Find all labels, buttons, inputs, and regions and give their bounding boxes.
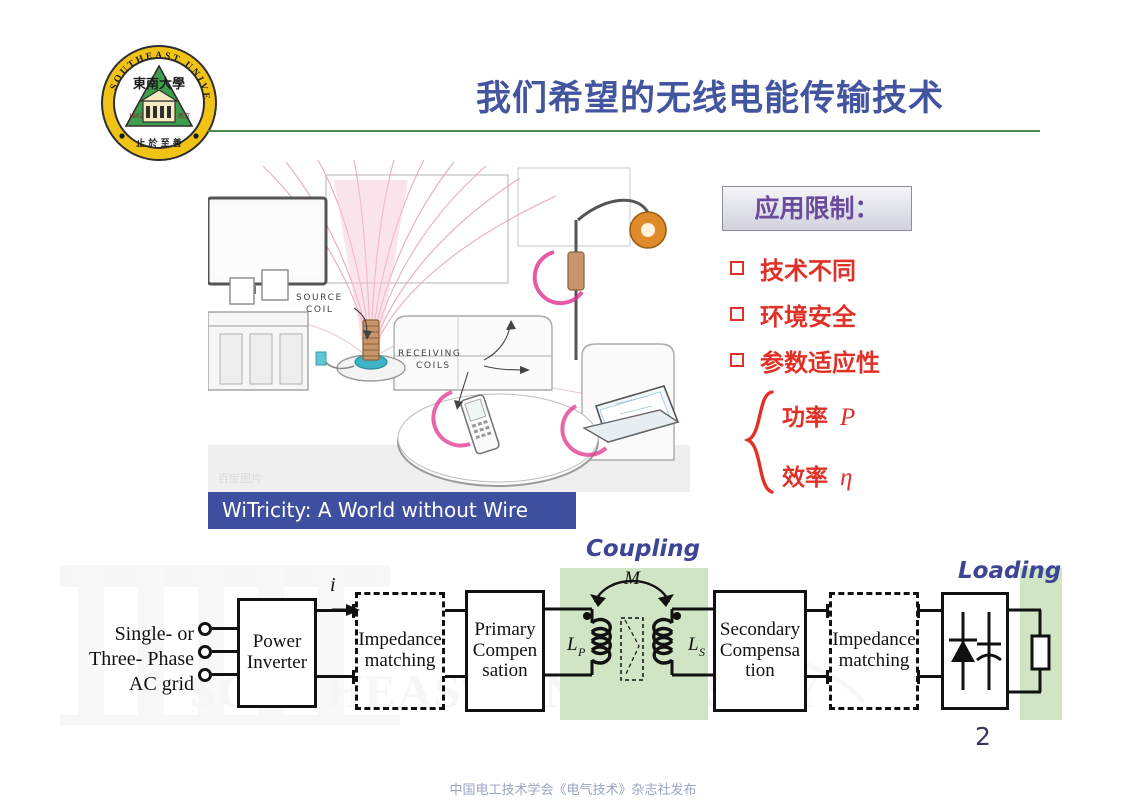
square-bullet-icon (730, 353, 744, 367)
ac-terminal (198, 622, 212, 636)
metric-power-label: 功率 (782, 405, 828, 431)
witricity-illustration: SOURCE COIL RECEIVING COILS 百度图片 (208, 160, 690, 492)
list-item: 参数适应性 (730, 337, 990, 383)
metric-efficiency-label: 效率 (782, 465, 828, 491)
block-line: Inverter (247, 653, 307, 674)
list-item-label: 技术不同 (760, 251, 856, 286)
block-line: Power (253, 632, 302, 653)
svg-text:COILS: COILS (416, 361, 451, 371)
ac-grid-line3: AC grid (84, 672, 194, 697)
system-block-diagram: Coupling Loading Single- or Three- Phase… (0, 530, 1146, 730)
svg-text:SOURCE: SOURCE (296, 293, 343, 303)
page-number: 2 (975, 722, 991, 751)
svg-text:南京: 南京 (178, 112, 190, 120)
current-label: i (330, 574, 336, 597)
load-resistor (1007, 592, 1065, 710)
block-line: Compen (473, 641, 537, 662)
rectifier-symbols (945, 596, 1005, 706)
block-primary-compensation: Primary Compen sation (465, 590, 545, 712)
block-power-inverter: Power Inverter (237, 598, 317, 708)
metric-power: 功率P (782, 398, 855, 432)
svg-text:百度图片: 百度图片 (218, 471, 262, 485)
block-line: matching (365, 651, 436, 672)
block-line: sation (482, 661, 527, 682)
block-line: Impedance (358, 630, 441, 651)
coupling-label: Coupling (586, 536, 700, 562)
page-title: 我们希望的无线电能传输技术 (380, 74, 1040, 124)
block-impedance-matching-primary: Impedance matching (355, 592, 445, 710)
svg-text:RECEIVING: RECEIVING (398, 349, 461, 359)
slide: SOUTHEAST UNIVERSITY 東南大學 1902 南京 止 於 至 … (0, 0, 1146, 810)
ac-grid-label: Single- or Three- Phase AC grid (84, 622, 194, 697)
wire (445, 609, 465, 612)
footer-text: 中国电工技术学会《电气技术》杂志社发布 (0, 779, 1146, 798)
square-bullet-icon (730, 307, 744, 321)
svg-text:P: P (577, 645, 586, 659)
photo-caption: WiTricity: A World without Wire (208, 492, 576, 529)
university-logo: 東南大學 1902 南京 止 於 至 善 SOUTHEAST UNIVERSIT… (100, 44, 218, 162)
limits-bullet-list: 技术不同 环境安全 参数适应性 (730, 245, 990, 383)
wire (917, 609, 943, 612)
list-item: 技术不同 (730, 245, 990, 291)
wire (212, 650, 238, 653)
svg-text:L: L (687, 634, 699, 655)
block-line: Compensa (720, 641, 800, 662)
list-item-label: 参数适应性 (760, 343, 880, 378)
block-line: tion (745, 661, 775, 682)
block-impedance-matching-secondary: Impedance matching (829, 592, 919, 710)
metric-efficiency: 效率η (782, 458, 852, 492)
block-line: Secondary (720, 620, 800, 641)
list-item-label: 环境安全 (760, 297, 856, 332)
square-bullet-icon (730, 261, 744, 275)
block-secondary-compensation: Secondary Compensa tion (713, 590, 807, 712)
svg-text:東南大學: 東南大學 (133, 76, 185, 92)
svg-text:止 於 至 善: 止 於 至 善 (136, 137, 181, 149)
svg-text:L: L (566, 634, 578, 655)
wire (212, 673, 238, 676)
block-line: Primary (474, 620, 535, 641)
wire (445, 675, 465, 678)
metric-efficiency-symbol: η (840, 464, 852, 491)
ac-grid-line1: Single- or (84, 622, 194, 647)
list-item: 环境安全 (730, 291, 990, 337)
wire (212, 627, 238, 630)
wire (917, 675, 943, 678)
ac-grid-line2: Three- Phase (84, 647, 194, 672)
metric-power-symbol: P (840, 404, 855, 431)
ac-terminal (198, 645, 212, 659)
wire (317, 675, 355, 678)
svg-text:S: S (699, 645, 705, 659)
block-line: matching (839, 651, 910, 672)
svg-text:1902: 1902 (128, 113, 143, 120)
application-limits-header: 应用限制： (722, 186, 912, 231)
title-divider (208, 130, 1040, 132)
metrics-brace-group: 功率P 效率η (740, 392, 970, 492)
ac-terminal (198, 668, 212, 682)
block-rectifier (941, 592, 1009, 710)
svg-text:COIL: COIL (306, 305, 333, 315)
coupling-transformer: M L P L S (545, 568, 725, 720)
loading-label: Loading (958, 558, 1061, 584)
svg-text:M: M (623, 568, 641, 589)
block-line: Impedance (832, 630, 915, 651)
